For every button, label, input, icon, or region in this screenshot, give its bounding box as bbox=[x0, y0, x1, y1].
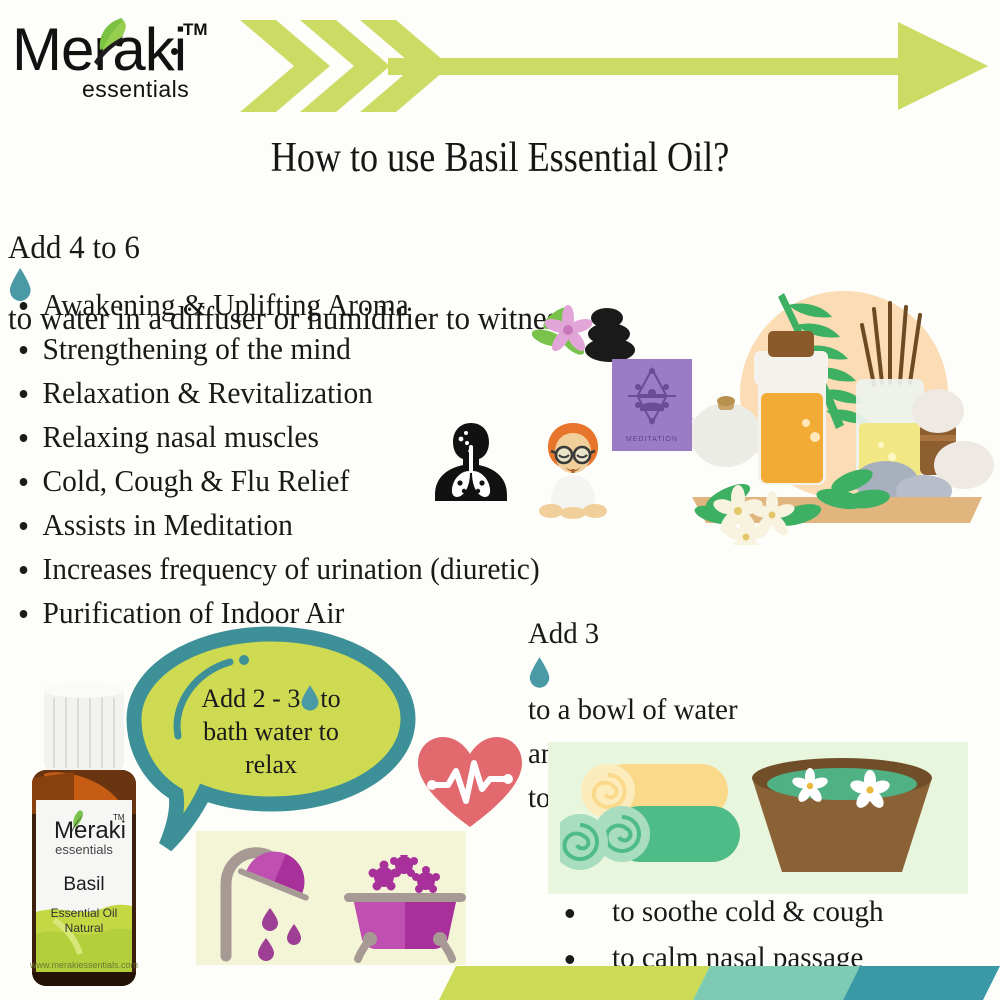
meditation-card-icon: MEDITATION bbox=[608, 357, 696, 455]
water-droplet-icon bbox=[300, 684, 320, 711]
bottle-desc1: Essential Oil bbox=[51, 906, 118, 920]
bottle-url: www.merakiessentials.com bbox=[29, 960, 138, 970]
spa-illustration bbox=[676, 275, 994, 545]
bottle-trademark: TM bbox=[113, 813, 125, 822]
decorative-arrow bbox=[238, 16, 990, 116]
bubble-text: Add 2 - 3to bath water to relax bbox=[162, 682, 380, 781]
logo-dot bbox=[171, 48, 178, 55]
brand-logo: Meraki TM essentials bbox=[10, 14, 225, 106]
water-bowl-flowers-icon bbox=[742, 752, 942, 887]
bathtub-icon bbox=[340, 855, 470, 963]
bubble-line1-before: Add 2 - 3 bbox=[201, 684, 300, 713]
leaf-icon bbox=[88, 16, 142, 68]
list-item: Relaxation & Revitalization bbox=[14, 371, 698, 415]
steam-before: Add 3 bbox=[528, 617, 599, 650]
bottle-sub: essentials bbox=[55, 842, 113, 857]
brand-subtitle: essentials bbox=[82, 76, 189, 103]
meditating-person-icon bbox=[537, 417, 609, 523]
infographic-page: Meraki TM essentials How to use Basil Es… bbox=[0, 0, 1000, 1000]
intro-text-before: Add 4 to 6 bbox=[8, 230, 140, 266]
list-item: Increases frequency of urination (diuret… bbox=[14, 547, 698, 591]
page-title: How to use Basil Essential Oil? bbox=[70, 134, 930, 182]
rolled-towels-icon bbox=[560, 748, 760, 888]
arrow-right-icon bbox=[238, 16, 990, 116]
bubble-line1-after: to bbox=[320, 684, 340, 713]
bubble-line2: bath water to bbox=[203, 717, 339, 746]
bath-speech-bubble: Add 2 - 3to bath water to relax bbox=[126, 624, 416, 860]
heartbeat-heart-icon bbox=[414, 733, 526, 833]
meditation-card-label: MEDITATION bbox=[626, 436, 678, 443]
bottle-desc2: Natural bbox=[65, 921, 104, 935]
essential-oil-bottle: Meraki TM essentials Basil Essential Oil… bbox=[14, 682, 154, 1000]
water-droplet-icon bbox=[528, 656, 551, 688]
steam-after-line1: to a bowl of water bbox=[528, 693, 738, 726]
lungs-torso-icon bbox=[431, 421, 511, 503]
bottle-product: Basil bbox=[63, 874, 104, 895]
bubble-line3: relax bbox=[245, 750, 297, 779]
trademark-symbol: TM bbox=[183, 20, 208, 40]
list-item: to soothe cold & cough bbox=[548, 889, 985, 935]
bottom-color-band bbox=[280, 966, 1000, 1000]
